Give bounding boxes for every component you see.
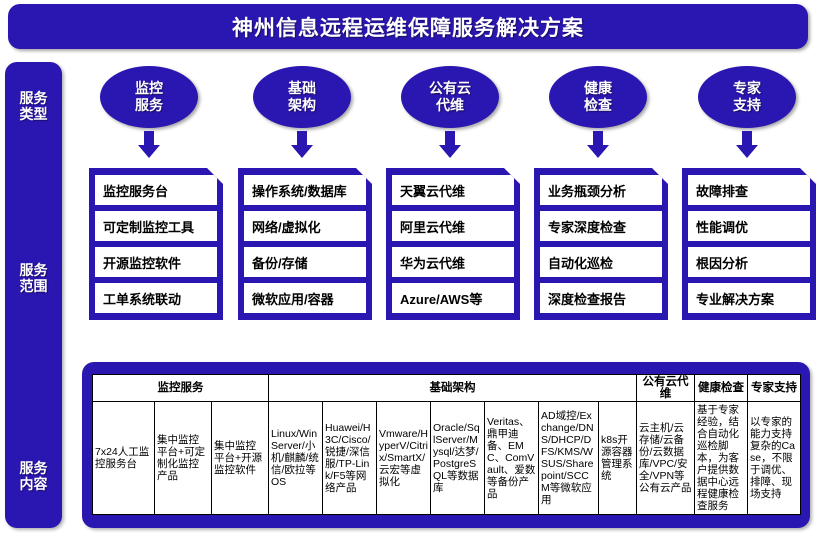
sidebar-item-service-content: 服务 内容 [5, 460, 62, 492]
table-cell: Huawei/H3C/Cisco/锐捷/深信服/TP-Link/F5等网络产品 [323, 402, 377, 515]
sidebar-label-line1: 服务 [20, 460, 48, 476]
scope-item: 故障排查 [688, 175, 810, 205]
sidebar-item-service-scope: 服务 范围 [5, 262, 62, 294]
table-header-row: 监控服务 基础架构 公有云代维 健康检查 专家支持 [93, 375, 801, 402]
sidebar-label-line2: 内容 [20, 476, 48, 492]
scope-item: 自动化巡检 [540, 247, 662, 277]
sidebar-label-line2: 范围 [20, 278, 48, 294]
scope-item: 业务瓶颈分析 [540, 175, 662, 205]
down-arrow-icon [735, 131, 759, 159]
scope-box-monitoring: 监控服务台 可定制监控工具 开源监控软件 工单系统联动 [89, 168, 223, 320]
table-cell: Vmware/HyperV/Citrix/SmartX/云宏等虚拟化 [377, 402, 431, 515]
service-type-ellipse-expert-support: 专家 支持 [698, 66, 796, 128]
ellipse-label-line2: 架构 [288, 97, 316, 113]
sidebar-label-line1: 服务 [20, 262, 48, 278]
table-group-header-health-check: 健康检查 [695, 375, 748, 402]
scope-item: 性能调优 [688, 211, 810, 241]
table-cell: Oracle/SqlServer/Mysql/达梦/PostgreSQL等数据库 [431, 402, 485, 515]
table-cell: 云主机/云存储/云备份/云数据库/VPC/安全/VPN等公有云产品 [637, 402, 695, 515]
down-arrow-icon [586, 131, 610, 159]
down-arrow-icon [438, 131, 462, 159]
scope-item: 操作系统/数据库 [244, 175, 366, 205]
scope-box-expert-support: 故障排查 性能调优 根因分析 专业解决方案 [682, 168, 816, 320]
table-cell: k8s开源容器管理系统 [599, 402, 637, 515]
service-type-ellipse-health-check: 健康 检查 [549, 66, 647, 128]
category-sidebar: 服务 类型 服务 范围 服务 内容 [5, 62, 62, 528]
ellipse-label-line2: 服务 [135, 97, 163, 113]
scope-item: 监控服务台 [95, 175, 217, 205]
scope-box-infrastructure: 操作系统/数据库 网络/虚拟化 备份/存储 微软应用/容器 [238, 168, 372, 320]
table-cell: 集中监控平台+可定制化监控产品 [155, 402, 212, 515]
scope-item: 阿里云代维 [392, 211, 514, 241]
sidebar-label-line2: 类型 [20, 106, 48, 122]
scope-item: 专家深度检查 [540, 211, 662, 241]
service-type-ellipse-public-cloud: 公有云 代维 [401, 66, 499, 128]
scope-item: 工单系统联动 [95, 283, 217, 313]
scope-item: 华为云代维 [392, 247, 514, 277]
ellipse-label-line1: 专家 [733, 80, 761, 96]
page-title: 神州信息远程运维保障服务解决方案 [232, 12, 584, 42]
table-cell: 基于专家经验，结合自动化巡检脚本，为客户提供数据中心远程健康检查服务 [695, 402, 748, 515]
ellipse-label-line1: 公有云 [429, 80, 471, 96]
scope-item: 深度检查报告 [540, 283, 662, 313]
table-group-header-public-cloud: 公有云代维 [637, 375, 695, 402]
page-title-banner: 神州信息远程运维保障服务解决方案 [8, 4, 808, 49]
table-group-header-monitoring: 监控服务 [93, 375, 269, 402]
ellipse-label-line1: 基础 [288, 80, 316, 96]
scope-item: 专业解决方案 [688, 283, 810, 313]
scope-item: 备份/存储 [244, 247, 366, 277]
scope-item: Azure/AWS等 [392, 283, 514, 313]
down-arrow-icon [290, 131, 314, 159]
service-type-ellipse-monitoring: 监控 服务 [100, 66, 198, 128]
scope-item: 天翼云代维 [392, 175, 514, 205]
ellipse-label-line2: 代维 [436, 97, 464, 113]
sidebar-item-service-type: 服务 类型 [5, 90, 62, 122]
table-cell: 7x24人工监控服务台 [93, 402, 155, 515]
scope-item: 微软应用/容器 [244, 283, 366, 313]
ellipse-label-line2: 支持 [733, 97, 761, 113]
table-group-header-expert-support: 专家支持 [748, 375, 801, 402]
table-cell: Veritas、鼎甲迪备、EMC、ComVault、爱数等备份产品 [485, 402, 539, 515]
sidebar-label-line1: 服务 [20, 90, 48, 106]
scope-box-public-cloud: 天翼云代维 阿里云代维 华为云代维 Azure/AWS等 [386, 168, 520, 320]
scope-item: 网络/虚拟化 [244, 211, 366, 241]
scope-box-health-check: 业务瓶颈分析 专家深度检查 自动化巡检 深度检查报告 [534, 168, 668, 320]
ellipse-label-line1: 健康 [584, 80, 612, 96]
table-group-header-infrastructure: 基础架构 [269, 375, 637, 402]
table-cell: 集中监控平台+开源监控软件 [212, 402, 269, 515]
down-arrow-icon [137, 131, 161, 159]
ellipse-label-line1: 监控 [135, 80, 163, 96]
scope-item: 根因分析 [688, 247, 810, 277]
service-content-panel: 监控服务 基础架构 公有云代维 健康检查 专家支持 7x24人工监控服务台 集中… [82, 362, 810, 528]
table-cell: 以专家的能力支持复杂的Case，不限于调优、排障、现场支持 [748, 402, 801, 515]
table-row: 7x24人工监控服务台 集中监控平台+可定制化监控产品 集中监控平台+开源监控软… [93, 402, 801, 515]
service-content-table: 监控服务 基础架构 公有云代维 健康检查 专家支持 7x24人工监控服务台 集中… [92, 374, 801, 515]
service-type-ellipse-infrastructure: 基础 架构 [253, 66, 351, 128]
table-cell: AD域控/Exchange/DNS/DHCP/DFS/KMS/WSUS/Shar… [539, 402, 599, 515]
scope-item: 开源监控软件 [95, 247, 217, 277]
table-cell: Linux/WinServer/小机/麒麟/统信/欧拉等OS [269, 402, 323, 515]
ellipse-label-line2: 检查 [584, 97, 612, 113]
scope-item: 可定制监控工具 [95, 211, 217, 241]
